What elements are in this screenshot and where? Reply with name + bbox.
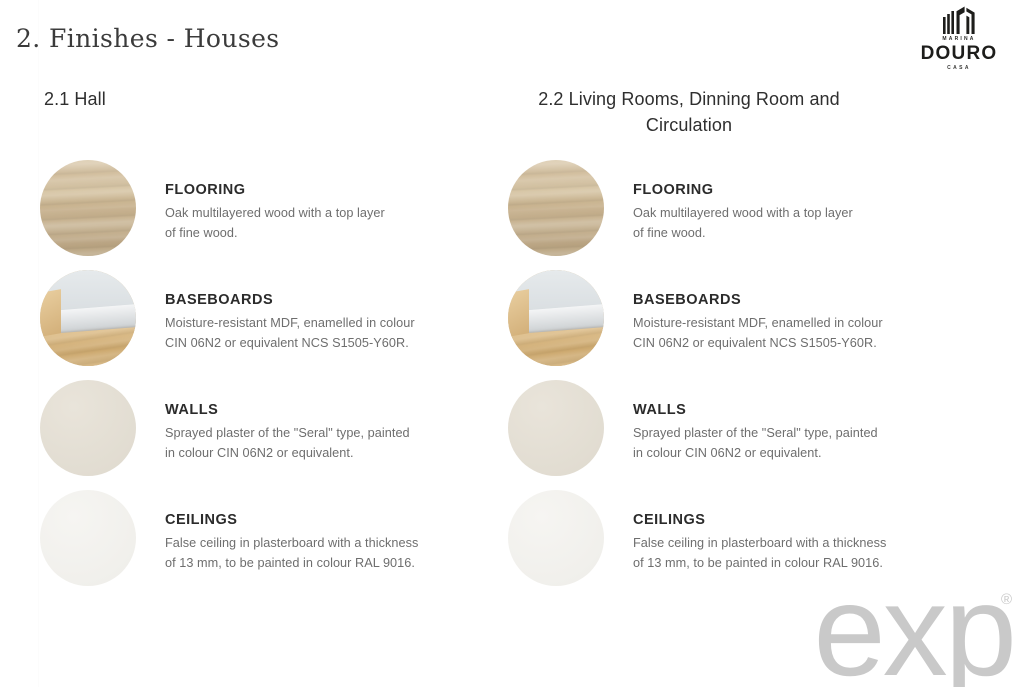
finish-item-description: False ceiling in plasterboard with a thi…	[165, 534, 485, 574]
finish-item-body: FLOORING Oak multilayered wood with a to…	[165, 182, 485, 244]
registered-trademark-icon: ®	[1001, 594, 1012, 606]
finish-item-description: Sprayed plaster of the "Seral" type, pai…	[633, 424, 953, 464]
brand-top-word: MARINA	[916, 37, 1002, 42]
baseboard-swatch	[508, 270, 604, 366]
finish-item-title: CEILINGS	[165, 512, 485, 528]
finish-item-title: CEILINGS	[633, 512, 953, 528]
baseboard-left-wood-edge	[508, 289, 529, 337]
finish-item-title: FLOORING	[165, 182, 485, 198]
brand-main-word: DOURO	[916, 44, 1002, 63]
finish-item: BASEBOARDS Moisture-resistant MDF, ename…	[508, 270, 948, 380]
finish-item: FLOORING Oak multilayered wood with a to…	[40, 160, 480, 270]
finish-item-description: Sprayed plaster of the "Seral" type, pai…	[165, 424, 485, 464]
finish-item-description: False ceiling in plasterboard with a thi…	[633, 534, 953, 574]
wall-paint-swatch	[508, 380, 604, 476]
baseboard-left-wood-edge	[40, 289, 61, 337]
baseboard-swatch	[40, 270, 136, 366]
document-page: MARINA DOURO CASA 2. Finishes - Houses 2…	[0, 0, 1024, 687]
section-living-rooms: 2.2 Living Rooms, Dinning Room and Circu…	[508, 86, 948, 600]
finish-item-title: WALLS	[165, 402, 485, 418]
finish-item-body: CEILINGS False ceiling in plasterboard w…	[633, 512, 953, 574]
finish-item-body: WALLS Sprayed plaster of the "Seral" typ…	[165, 402, 485, 464]
finish-item-list-hall: FLOORING Oak multilayered wood with a to…	[40, 160, 480, 600]
marina-douro-building-mark-icon	[939, 6, 979, 34]
finish-item: CEILINGS False ceiling in plasterboard w…	[508, 490, 948, 600]
page-edge-rule	[38, 0, 39, 687]
section-heading-hall: 2.1 Hall	[40, 86, 480, 140]
section-heading-living-rooms: 2.2 Living Rooms, Dinning Room and Circu…	[508, 86, 948, 140]
finish-item: WALLS Sprayed plaster of the "Seral" typ…	[40, 380, 480, 490]
wood-flooring-swatch	[508, 160, 604, 256]
wood-flooring-swatch	[40, 160, 136, 256]
brand-sub-word: CASA	[916, 66, 1002, 71]
finish-item: BASEBOARDS Moisture-resistant MDF, ename…	[40, 270, 480, 380]
finish-item-body: FLOORING Oak multilayered wood with a to…	[633, 182, 953, 244]
finish-item-body: BASEBOARDS Moisture-resistant MDF, ename…	[633, 292, 953, 354]
finish-item: CEILINGS False ceiling in plasterboard w…	[40, 490, 480, 600]
finish-item-title: BASEBOARDS	[165, 292, 485, 308]
finish-item-body: WALLS Sprayed plaster of the "Seral" typ…	[633, 402, 953, 464]
wall-paint-swatch	[40, 380, 136, 476]
finish-item-title: BASEBOARDS	[633, 292, 953, 308]
finish-item-list-living-rooms: FLOORING Oak multilayered wood with a to…	[508, 160, 948, 600]
brand-logo: MARINA DOURO CASA	[916, 6, 1002, 71]
section-hall: 2.1 Hall FLOORING Oak multilayered wood …	[40, 86, 480, 600]
page-title: 2. Finishes - Houses	[16, 24, 280, 53]
ceiling-paint-swatch	[40, 490, 136, 586]
finish-item: FLOORING Oak multilayered wood with a to…	[508, 160, 948, 270]
finish-item-body: CEILINGS False ceiling in plasterboard w…	[165, 512, 485, 574]
finish-item: WALLS Sprayed plaster of the "Seral" typ…	[508, 380, 948, 490]
finish-item-description: Moisture-resistant MDF, enamelled in col…	[633, 314, 953, 354]
finish-item-description: Oak multilayered wood with a top layer o…	[165, 204, 485, 244]
finish-item-body: BASEBOARDS Moisture-resistant MDF, ename…	[165, 292, 485, 354]
finish-item-description: Oak multilayered wood with a top layer o…	[633, 204, 953, 244]
finish-item-description: Moisture-resistant MDF, enamelled in col…	[165, 314, 485, 354]
finish-item-title: FLOORING	[633, 182, 953, 198]
finish-item-title: WALLS	[633, 402, 953, 418]
ceiling-paint-swatch	[508, 490, 604, 586]
